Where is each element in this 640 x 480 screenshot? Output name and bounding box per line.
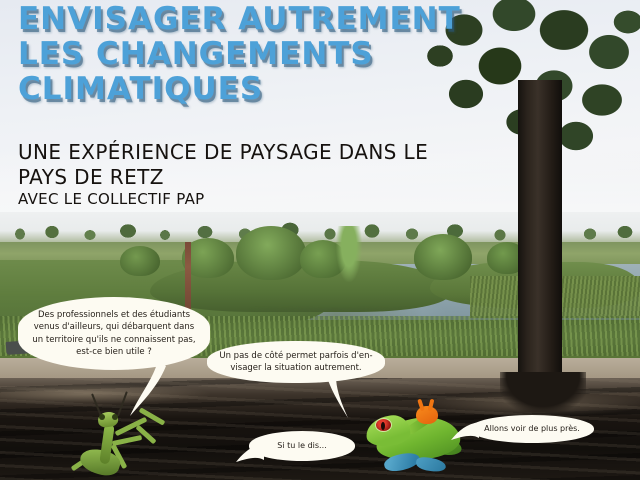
frog-pupil [381,422,385,430]
tree-trunk-base [500,372,586,412]
speech-bubble-si-tu-le-dis: Si tu le dis... [249,431,355,461]
page-subtitle: UNE EXPÉRIENCE DE PAYSAGE DANS LE PAYS D… [18,140,488,190]
bush [414,234,472,280]
mantis-eye [99,414,105,420]
page-title: ENVISAGER AUTREMENT LES CHANGEMENTS CLIM… [18,2,628,107]
young-tree [336,226,362,282]
speech-bubble-allons-voir: Allons voir de plus près. [470,415,594,443]
frog-hand [416,406,438,424]
speech-bubble-text: Si tu le dis... [277,440,326,453]
mantis-eye [112,414,118,420]
bush [120,246,160,276]
speech-bubble-professionnels: Des professionnels et des étudiants venu… [18,297,210,370]
bush [236,226,306,280]
poster: ENVISAGER AUTREMENT LES CHANGEMENTS CLIM… [0,0,640,480]
frog-foot [415,456,447,473]
praying-mantis [62,398,190,480]
speech-bubble-text: Un pas de côté permet parfois d'en- visa… [219,350,372,375]
mantis-foreleg [112,435,142,446]
speech-bubble-text: Allons voir de plus près. [484,423,580,436]
speech-bubble-text: Des professionnels et des étudiants venu… [32,309,195,359]
page-subtitle-secondary: AVEC LE COLLECTIF PAP [18,190,488,208]
speech-bubble-pas-de-cote: Un pas de côté permet parfois d'en- visa… [207,341,385,383]
tree-trunk [518,80,562,410]
